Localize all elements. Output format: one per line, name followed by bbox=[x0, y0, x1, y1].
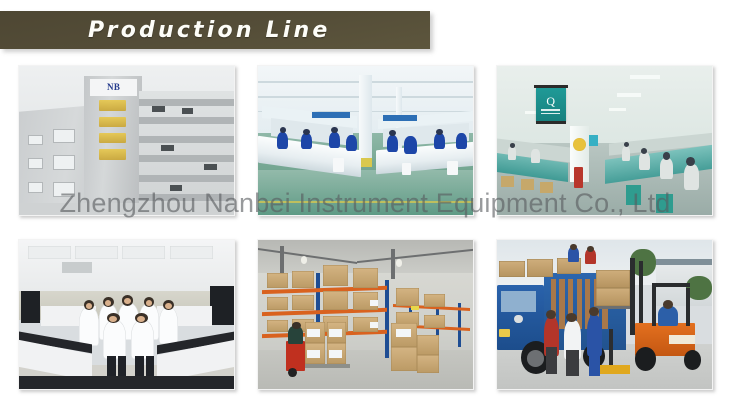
carton-stack bbox=[267, 273, 289, 288]
pallet-jack bbox=[600, 365, 630, 374]
worker bbox=[684, 164, 699, 189]
building-roof bbox=[656, 259, 712, 265]
worker bbox=[277, 132, 288, 150]
carton-label bbox=[307, 350, 320, 357]
monitor-left bbox=[21, 291, 40, 324]
floor-bin bbox=[333, 158, 344, 171]
pallet-jack-handle bbox=[609, 329, 613, 368]
worker bbox=[660, 158, 673, 179]
person-face bbox=[124, 298, 130, 304]
lab-bench-front bbox=[19, 376, 234, 389]
corner-tower bbox=[84, 76, 142, 215]
carton-stack bbox=[323, 291, 349, 310]
carton-stack bbox=[353, 268, 379, 287]
person-lab-coat bbox=[159, 307, 178, 344]
ceiling-tile bbox=[75, 246, 118, 259]
floor-bin bbox=[447, 161, 458, 174]
worker bbox=[329, 132, 340, 148]
carton-front bbox=[417, 355, 439, 373]
parts-bin bbox=[656, 194, 673, 213]
window-opening bbox=[161, 145, 174, 151]
carton-front bbox=[391, 347, 417, 371]
carton-stack bbox=[292, 271, 314, 287]
worker bbox=[531, 149, 540, 162]
worker bbox=[346, 135, 357, 151]
pallet-truck bbox=[286, 341, 305, 371]
cab-emblem bbox=[514, 315, 523, 324]
floor-slab bbox=[139, 175, 234, 182]
window-opening bbox=[204, 164, 217, 170]
ceiling-lamp bbox=[630, 75, 660, 79]
rack-upright bbox=[385, 280, 389, 357]
worker-head bbox=[546, 310, 556, 319]
photo-loading-shipment[interactable] bbox=[496, 239, 713, 390]
forklift-wheel bbox=[684, 350, 701, 369]
parts-bin bbox=[626, 185, 641, 204]
nb-company-logo: NB bbox=[90, 79, 137, 95]
worker-head bbox=[280, 127, 286, 133]
worker-head bbox=[566, 313, 577, 322]
person-face bbox=[105, 300, 111, 306]
worker-head bbox=[663, 152, 671, 159]
signage-character bbox=[99, 100, 127, 110]
window-opening bbox=[152, 106, 165, 112]
pallet bbox=[301, 364, 350, 368]
person-lab-coat-seated bbox=[103, 320, 127, 359]
worker bbox=[622, 146, 631, 161]
banner-text-line bbox=[541, 113, 560, 115]
quality-banner: Q bbox=[536, 88, 566, 121]
bed-slat bbox=[559, 279, 564, 330]
window bbox=[53, 155, 75, 170]
floor-slab bbox=[139, 117, 234, 124]
window bbox=[28, 158, 43, 168]
forklift-canopy bbox=[652, 283, 691, 287]
worker bbox=[404, 136, 417, 154]
factory-building-scene: NB bbox=[19, 66, 234, 215]
person-lab-coat-seated bbox=[131, 320, 155, 359]
monitor-right bbox=[210, 286, 234, 325]
worker bbox=[387, 135, 398, 153]
laboratory-scene bbox=[19, 240, 234, 389]
signage-character bbox=[99, 117, 127, 127]
cargo-carton bbox=[527, 259, 553, 277]
person-lab-coat bbox=[79, 307, 98, 346]
lifted-carton bbox=[596, 270, 630, 288]
window-opening bbox=[182, 108, 193, 114]
banner-letter-q: Q bbox=[546, 95, 555, 107]
ground bbox=[19, 203, 234, 215]
window bbox=[28, 182, 43, 192]
line-signboard bbox=[312, 112, 351, 118]
production-line-page: Production Line bbox=[0, 0, 730, 405]
carton-stack bbox=[424, 294, 446, 307]
floor-slab bbox=[139, 99, 234, 106]
carton-stack bbox=[323, 265, 349, 286]
photo-assembly-workshop[interactable] bbox=[257, 65, 474, 216]
nb-logo-text: NB bbox=[107, 83, 120, 92]
person-legs bbox=[118, 356, 127, 377]
floor-slab bbox=[139, 155, 234, 162]
floor-slab bbox=[139, 136, 234, 143]
worker-legs bbox=[589, 350, 600, 375]
assembly-workshop-scene bbox=[258, 66, 473, 215]
loading-shipment-scene bbox=[497, 240, 712, 389]
carton bbox=[501, 176, 514, 186]
rack-tag bbox=[411, 306, 420, 310]
cargo-carton bbox=[499, 261, 525, 277]
worker-head bbox=[436, 129, 442, 135]
signage-character bbox=[99, 149, 127, 159]
forklift-overhead-post bbox=[686, 288, 690, 327]
ceiling bbox=[497, 66, 712, 143]
worker-head bbox=[587, 246, 593, 252]
ceiling-tile bbox=[122, 246, 165, 259]
worker-head bbox=[331, 127, 337, 133]
floor-marking-line bbox=[258, 201, 473, 203]
photo-warehouse[interactable] bbox=[257, 239, 474, 390]
driver-head bbox=[663, 300, 674, 309]
worker bbox=[456, 133, 467, 149]
floor-bin bbox=[402, 163, 411, 175]
person-face bbox=[109, 316, 117, 322]
worker-head bbox=[389, 130, 395, 136]
roof-post bbox=[391, 249, 394, 279]
truck-windshield bbox=[501, 291, 535, 312]
photo-production-hall[interactable]: Q bbox=[496, 65, 713, 216]
carton-label bbox=[329, 329, 342, 336]
line-signboard bbox=[383, 115, 417, 121]
ceiling-lamp bbox=[617, 93, 641, 97]
worker bbox=[639, 152, 650, 170]
truck-headlight bbox=[499, 329, 510, 336]
page-title: Production Line bbox=[0, 18, 331, 43]
window bbox=[53, 129, 75, 144]
worker-head bbox=[303, 129, 309, 135]
banner-text-line bbox=[541, 109, 560, 111]
high-bay-lamp bbox=[396, 259, 402, 266]
window-opening bbox=[170, 185, 183, 191]
carton bbox=[521, 179, 534, 189]
production-hall-scene: Q bbox=[497, 66, 712, 215]
person-legs bbox=[107, 356, 116, 377]
worker bbox=[434, 133, 445, 149]
carton-stack bbox=[267, 320, 289, 332]
fire-extinguisher bbox=[574, 167, 583, 188]
ceiling-vent bbox=[62, 262, 92, 272]
truck-operator bbox=[288, 326, 303, 344]
worker bbox=[301, 133, 312, 149]
person-face bbox=[137, 316, 145, 322]
truck-wheel bbox=[288, 368, 297, 377]
carton-label bbox=[307, 329, 320, 336]
round-warning-sign bbox=[573, 138, 586, 151]
carton-stack bbox=[267, 297, 289, 310]
person-face bbox=[165, 303, 171, 309]
signage-character bbox=[99, 133, 127, 143]
carton-stack bbox=[292, 295, 314, 310]
warehouse-scene bbox=[258, 240, 473, 389]
window bbox=[28, 135, 43, 145]
person-face bbox=[146, 300, 152, 306]
ceiling-tile bbox=[28, 246, 71, 259]
banner-rail bbox=[536, 121, 566, 124]
section-header-banner: Production Line bbox=[0, 11, 430, 49]
carton bbox=[540, 182, 553, 192]
forklift-decal bbox=[669, 335, 695, 344]
carton-label bbox=[370, 300, 379, 306]
carton-label bbox=[370, 322, 379, 328]
photo-factory-building[interactable]: NB bbox=[18, 65, 235, 216]
wheel-hub bbox=[527, 350, 544, 366]
floor-slab bbox=[139, 194, 234, 201]
ceiling-lamp bbox=[609, 108, 626, 111]
carton-front bbox=[417, 335, 439, 354]
worker-legs bbox=[546, 347, 557, 374]
photo-gallery-grid: NB bbox=[18, 65, 712, 390]
forklift-driver bbox=[658, 306, 677, 327]
carton-stack bbox=[396, 288, 420, 306]
worker bbox=[508, 146, 517, 159]
fork-tine bbox=[594, 306, 633, 310]
photo-laboratory-team[interactable] bbox=[18, 239, 235, 390]
carton-label bbox=[396, 329, 411, 336]
lifted-carton bbox=[596, 288, 630, 306]
window bbox=[53, 182, 75, 197]
floor-reflection bbox=[258, 170, 473, 215]
wall-notice bbox=[589, 135, 598, 147]
worker-legs bbox=[566, 350, 579, 375]
carton-stack bbox=[424, 315, 446, 328]
ceiling-tile bbox=[170, 246, 213, 259]
person-face bbox=[86, 303, 92, 309]
carton-label bbox=[329, 350, 342, 357]
forklift-overhead-post bbox=[652, 285, 656, 327]
forklift-wheel bbox=[635, 347, 657, 371]
worker-head bbox=[686, 157, 695, 166]
